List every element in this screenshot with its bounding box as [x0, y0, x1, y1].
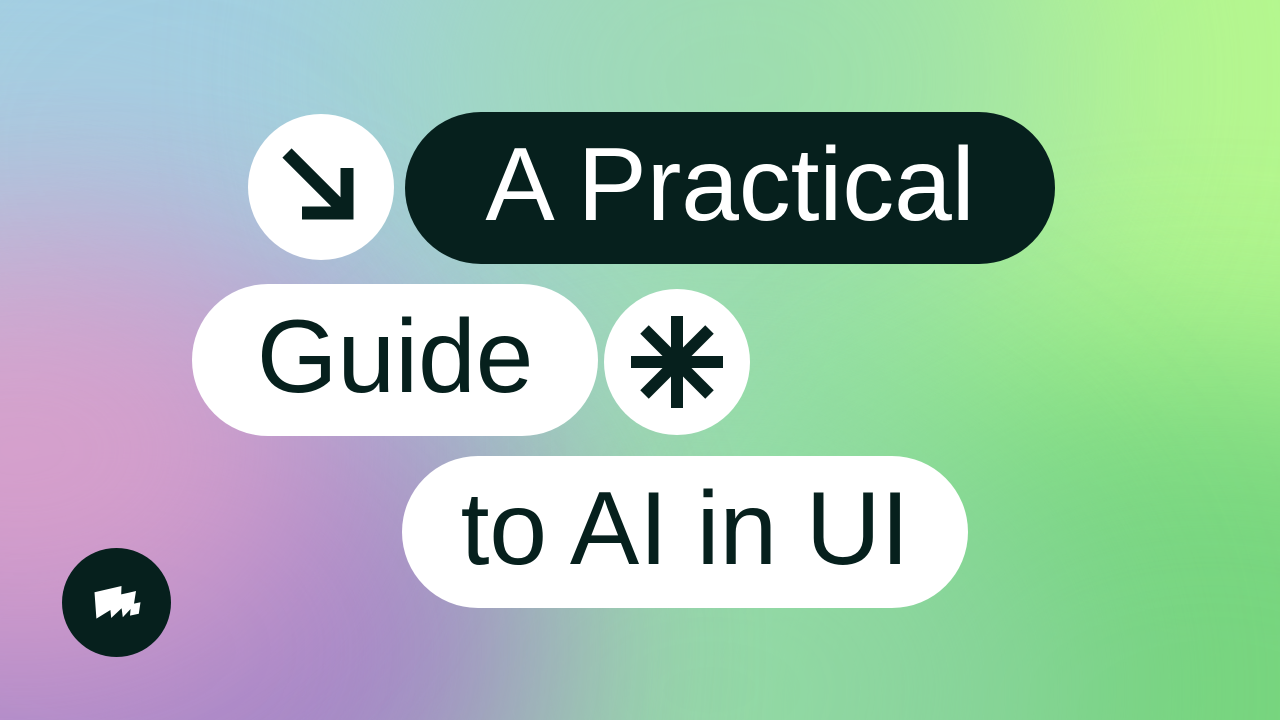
headline-line-2-text: Guide: [257, 305, 534, 409]
brand-logo-mark: [84, 570, 150, 636]
headline-line-1-text: A Practical: [485, 133, 974, 237]
headline-line-3-text: to AI in UI: [461, 477, 910, 581]
poster-canvas: A Practical Guide to AI in UI: [0, 0, 1280, 720]
asterisk-eight-point-icon: [625, 310, 729, 414]
arrow-down-right-icon: [273, 139, 369, 235]
poster-content: A Practical Guide to AI in UI: [0, 0, 1280, 720]
asterisk-eight-point-icon-badge: [604, 289, 750, 435]
headline-pill-line-1: A Practical: [405, 112, 1055, 264]
headline-pill-line-3: to AI in UI: [402, 456, 968, 608]
headline-pill-line-2: Guide: [192, 284, 598, 436]
brand-logo-badge: [62, 548, 171, 657]
arrow-down-right-icon-badge: [248, 114, 394, 260]
